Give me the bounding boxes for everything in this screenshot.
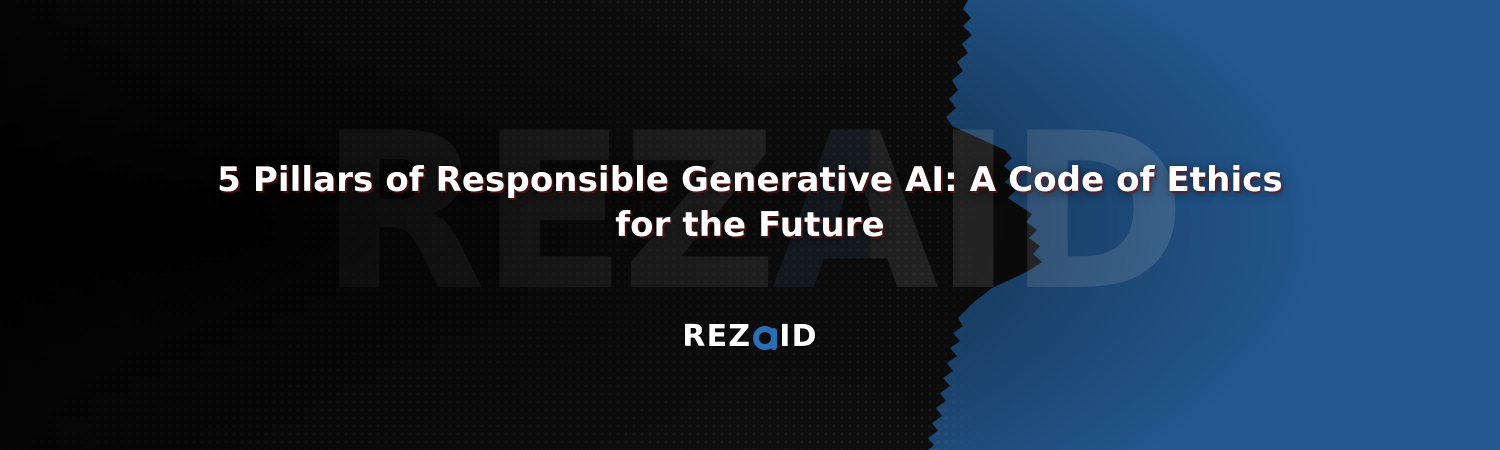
rezaid-logo[interactable]: REZ ID — [0, 322, 1500, 352]
logo-text-rez: REZ — [682, 322, 751, 352]
logo-text-id: ID — [779, 322, 817, 352]
blog-hero-banner: REZ A ID REZ A ID 5 Pillars of Responsib… — [0, 0, 1500, 450]
rezaid-a-mark-icon — [753, 326, 777, 350]
page-title: 5 Pillars of Responsible Generative AI: … — [0, 158, 1500, 248]
